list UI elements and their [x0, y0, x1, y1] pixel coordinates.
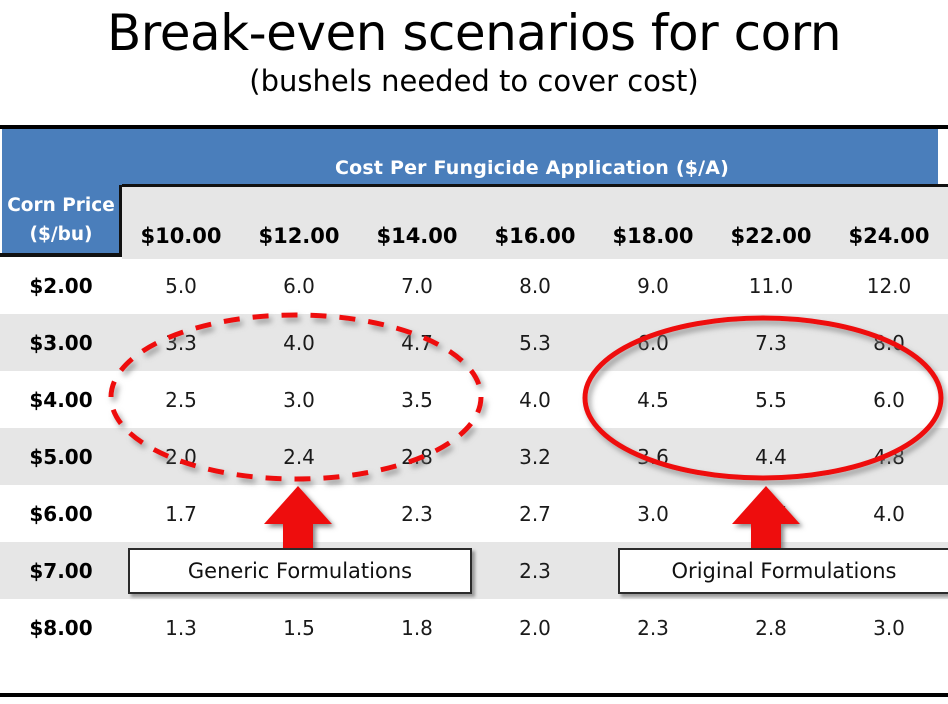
table-row: $2.005.06.07.08.09.011.012.0: [0, 257, 948, 314]
original-formulations-callout: Original Formulations: [618, 548, 948, 594]
table-cell: 9.0: [594, 274, 712, 298]
table-cell: 2.3: [358, 502, 476, 526]
table-cell: 4.5: [594, 388, 712, 412]
table-cell: 4.8: [830, 445, 948, 469]
table-cell: 2.8: [712, 616, 830, 640]
table-cell: 3.3: [122, 331, 240, 355]
table-row: $4.002.53.03.54.04.55.56.0: [0, 371, 948, 428]
table-cell: 2.7: [476, 502, 594, 526]
table-cell: 7.3: [712, 331, 830, 355]
table-cell: 3.7: [712, 502, 830, 526]
row-cells: 3.34.04.75.36.07.38.0: [122, 331, 948, 355]
table-cell: 3.5: [358, 388, 476, 412]
table-cell: 4.4: [712, 445, 830, 469]
column-header-cell: $16.00: [476, 224, 594, 256]
generic-formulations-label: Generic Formulations: [188, 559, 412, 583]
original-formulations-label: Original Formulations: [672, 559, 897, 583]
table-cell: 5.3: [476, 331, 594, 355]
table-cell: 8.0: [476, 274, 594, 298]
column-header-cell: $10.00: [122, 224, 240, 256]
table-cell: 1.5: [240, 616, 358, 640]
column-header-cell: $18.00: [594, 224, 712, 256]
table-cell: 1.8: [358, 616, 476, 640]
corner-header-cell: Corn Price ($/bu): [2, 187, 120, 253]
table-cell: 2.4: [240, 445, 358, 469]
breakeven-table: Cost Per Fungicide Application ($/A) Cor…: [0, 125, 948, 700]
table-cell: 6.0: [240, 274, 358, 298]
table-cell: 3.0: [830, 616, 948, 640]
row-header-cell: $2.00: [0, 274, 122, 298]
column-header-row: $10.00$12.00$14.00$16.00$18.00$22.00$24.…: [122, 184, 948, 256]
page-title: Break-even scenarios for corn: [0, 4, 948, 62]
table-cell: 7.0: [358, 274, 476, 298]
table-cell: 2.0: [122, 445, 240, 469]
table-cell: 4.0: [476, 388, 594, 412]
table-row: $5.002.02.42.83.23.64.44.8: [0, 428, 948, 485]
table-cell: 2.5: [122, 388, 240, 412]
table-row: $3.003.34.04.75.36.07.38.0: [0, 314, 948, 371]
table-cell: 4.0: [830, 502, 948, 526]
column-header-cell: $22.00: [712, 224, 830, 256]
row-header-cell: $7.00: [0, 559, 122, 583]
table-cell: 1.7: [122, 502, 240, 526]
column-group-title: Cost Per Fungicide Application ($/A): [124, 157, 940, 179]
row-header-cell: $4.00: [0, 388, 122, 412]
table-cell: 2.8: [358, 445, 476, 469]
table-cell: 3.0: [594, 502, 712, 526]
column-header-cell: $24.00: [830, 224, 948, 256]
table-cell: 8.0: [830, 331, 948, 355]
corner-header-line1: Corn Price: [2, 191, 120, 220]
row-cells: 2.53.03.54.04.55.56.0: [122, 388, 948, 412]
table-cell: 3.2: [476, 445, 594, 469]
table-cell: 12.0: [830, 274, 948, 298]
column-header-cell: $14.00: [358, 224, 476, 256]
table-cell: 2.3: [476, 559, 594, 583]
table-cell: 3.6: [594, 445, 712, 469]
column-header-cell: $12.00: [240, 224, 358, 256]
row-header-cell: $6.00: [0, 502, 122, 526]
table-cell: 4.0: [240, 331, 358, 355]
table-row: $6.001.72.02.32.73.03.74.0: [0, 485, 948, 542]
table-cell: 6.0: [594, 331, 712, 355]
row-cells: 5.06.07.08.09.011.012.0: [122, 274, 948, 298]
table-cell: 5.0: [122, 274, 240, 298]
corner-header-line2: ($/bu): [2, 220, 120, 249]
table-cell: 2.3: [594, 616, 712, 640]
row-cells: 2.02.42.83.23.64.44.8: [122, 445, 948, 469]
table-row: $8.001.31.51.82.02.32.83.0: [0, 599, 948, 656]
table-cell: 11.0: [712, 274, 830, 298]
row-cells: 1.31.51.82.02.32.83.0: [122, 616, 948, 640]
table-cell: 2.0: [476, 616, 594, 640]
table-cell: 1.3: [122, 616, 240, 640]
row-header-cell: $5.00: [0, 445, 122, 469]
generic-formulations-callout: Generic Formulations: [128, 548, 472, 594]
table-cell: 2.0: [240, 502, 358, 526]
title-block: Break-even scenarios for corn (bushels n…: [0, 0, 948, 125]
table-cell: 3.0: [240, 388, 358, 412]
table-body: $2.005.06.07.08.09.011.012.0$3.003.34.04…: [0, 257, 948, 656]
table-bottom-rule: [0, 693, 948, 697]
row-header-cell: $3.00: [0, 331, 122, 355]
table-cell: 5.5: [712, 388, 830, 412]
page-subtitle: (bushels needed to cover cost): [0, 64, 948, 98]
table-cell: 6.0: [830, 388, 948, 412]
table-cell: 4.7: [358, 331, 476, 355]
row-header-cell: $8.00: [0, 616, 122, 640]
row-cells: 1.72.02.32.73.03.74.0: [122, 502, 948, 526]
